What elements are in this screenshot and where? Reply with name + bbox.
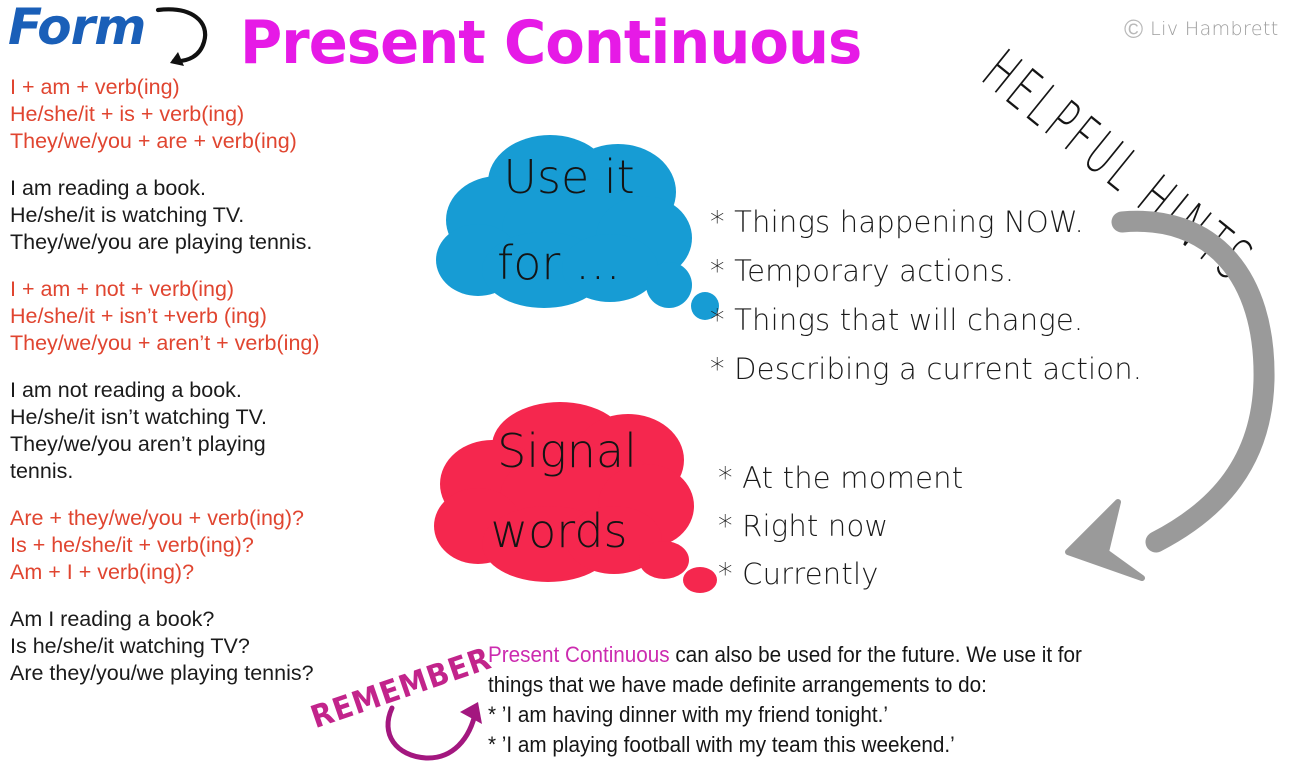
note-line-1-rest: can also be used for the future. We use … [670,642,1082,667]
form-block-black-5: Am I reading a book?Is he/she/it watchin… [10,606,440,687]
red-cloud-line-1: Signal [472,426,662,477]
signal-words-thought-bubble: Signal words [432,398,722,598]
form-line: I am not reading a book. [10,377,440,404]
blue-cloud-line-1: Use it [484,152,654,203]
note-line-1: Present Continuous can also be used for … [488,640,1240,670]
form-line: I + am + not + verb(ing) [10,276,440,303]
form-block-red-4: Are + they/we/you + verb(ing)?Is + he/sh… [10,505,440,586]
bullet-line: * At the moment [718,454,963,502]
bullet-line: * Currently [718,550,963,598]
form-line: Is he/she/it watching TV? [10,633,440,660]
grey-curved-arrow-icon [1060,180,1296,600]
form-line: He/she/it + isn’t +verb (ing) [10,303,440,330]
form-block-red-2: I + am + not + verb(ing)He/she/it + isn’… [10,276,440,357]
signal-words-list: * At the moment* Right now* Currently [718,454,963,598]
note-line-2: things that we have made definite arrang… [488,670,1240,700]
note-line-4: * ’I am playing football with my team th… [488,730,1240,760]
copyright-icon: © [1124,16,1143,42]
form-line: Am + I + verb(ing)? [10,559,440,586]
form-line: He/she/it isn’t watching TV. [10,404,440,431]
form-line: He/she/it + is + verb(ing) [10,101,440,128]
form-line: They/we/you + aren’t + verb(ing) [10,330,440,357]
form-heading: Form [8,2,145,52]
present-continuous-poster: Form Present Continuous © Liv Hambrett H… [0,0,1296,772]
form-line: I + am + verb(ing) [10,74,440,101]
form-line: I am reading a book. [10,175,440,202]
form-column: I + am + verb(ing)He/she/it + is + verb(… [10,74,440,707]
note-line-3: * ’I am having dinner with my friend ton… [488,700,1240,730]
blue-cloud-line-2: for … [474,238,644,289]
form-block-red-0: I + am + verb(ing)He/she/it + is + verb(… [10,74,440,155]
form-line: tennis. [10,458,440,485]
bullet-line: * Right now [718,502,963,550]
form-block-black-3: I am not reading a book.He/she/it isn’t … [10,377,440,485]
red-cloud-line-2: words [464,506,654,557]
form-line: Are + they/we/you + verb(ing)? [10,505,440,532]
copyright-name: Liv Hambrett [1150,18,1278,40]
use-it-for-thought-bubble: Use it for … [432,130,722,325]
form-line: They/we/you aren’t playing [10,431,440,458]
form-line: Am I reading a book? [10,606,440,633]
form-curved-arrow-icon [148,4,218,70]
note-highlight: Present Continuous [488,642,670,667]
future-use-note: Present Continuous can also be used for … [488,640,1288,760]
form-line: Is + he/she/it + verb(ing)? [10,532,440,559]
form-line: They/we/you are playing tennis. [10,229,440,256]
remember-curved-arrow-icon [378,690,488,770]
form-block-black-1: I am reading a book.He/she/it is watchin… [10,175,440,256]
copyright: © Liv Hambrett [1124,16,1279,42]
form-line: They/we/you + are + verb(ing) [10,128,440,155]
page-title: Present Continuous [240,13,861,73]
form-line: He/she/it is watching TV. [10,202,440,229]
